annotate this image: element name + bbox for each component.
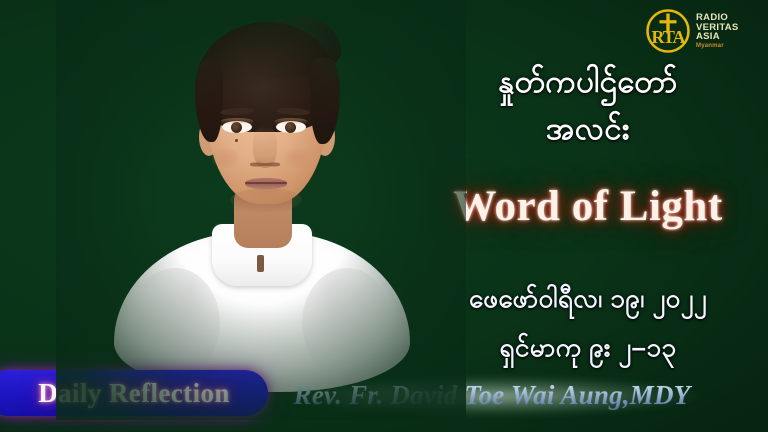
video-thumbnail-card: RTA RADIO VERITAS ASIA Myanmar	[0, 0, 768, 432]
facial-mole	[235, 139, 238, 142]
english-title: Word of Light	[408, 182, 768, 231]
daily-reflection-label: Daily Reflection	[24, 378, 230, 409]
burmese-title-line-2: အလင်း	[408, 105, 768, 152]
burmese-title-line-1: နှုတ်ကပါဌ်တော်	[408, 58, 768, 105]
presenter-portrait	[96, 0, 426, 400]
nostrils	[250, 160, 280, 169]
burmese-title: နှုတ်ကပါဌ်တော် အလင်း	[408, 58, 768, 152]
collar-button	[257, 255, 264, 272]
cheek-left	[212, 148, 238, 168]
chin-shadow	[230, 188, 302, 212]
shirt-shadow-left	[130, 268, 220, 378]
cheek-right	[284, 148, 310, 168]
daily-reflection-badge[interactable]: Daily Reflection	[0, 370, 268, 416]
eyelid-right	[275, 118, 307, 124]
scripture-reference: ရှင်မာကု ၉း ၂–၁၃	[408, 330, 768, 369]
presenter-name: Rev. Fr. David Toe Wai Aung,MDY	[284, 380, 700, 411]
lip-line	[245, 182, 287, 184]
title-column: နှုတ်ကပါဌ်တော် အလင်း Word of Light ဖေဖော…	[408, 0, 768, 432]
hair-side-right	[310, 58, 340, 144]
broadcast-date: ဖေဖော်ဝါရီလ၊ ၁၉၊ ၂၀၂၂	[408, 281, 768, 320]
eyelid-left	[221, 118, 253, 124]
shirt-shadow-right	[302, 268, 392, 378]
